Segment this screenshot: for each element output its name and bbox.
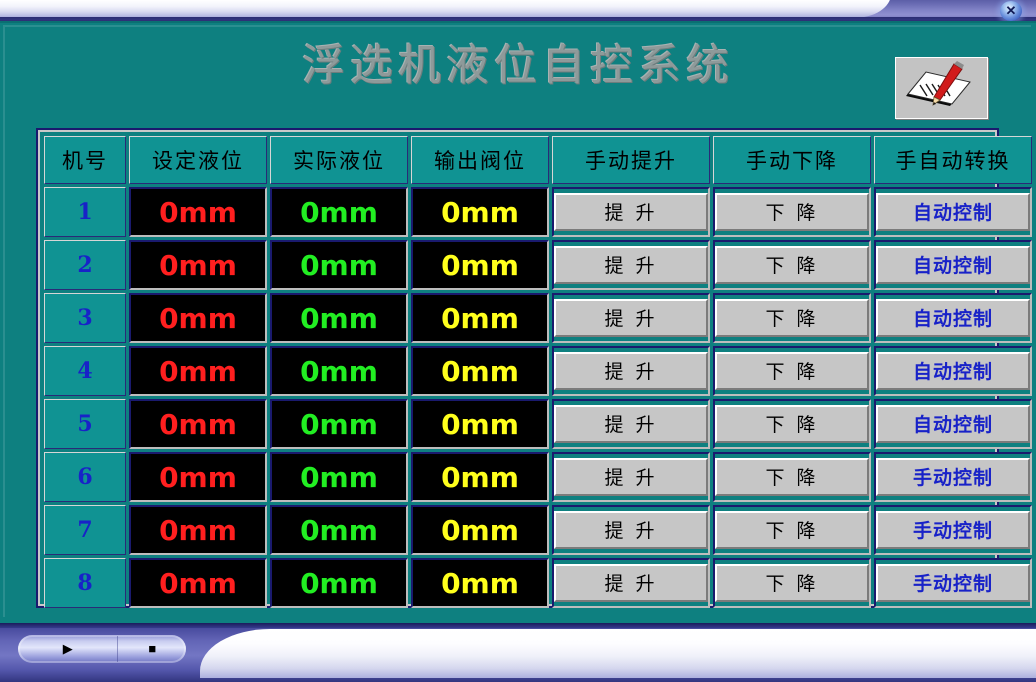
machine-number-cell: 7 — [44, 505, 126, 555]
manual-raise-cell: 提 升 — [552, 505, 710, 555]
play-button[interactable]: ▶ — [18, 635, 117, 663]
table-row: 60mm0mm0mm提 升下 降手动控制 — [44, 452, 1032, 502]
manual-lower-cell: 下 降 — [713, 505, 871, 555]
actual-level-readout: 0mm — [270, 452, 408, 502]
mode-switch-cell: 自动控制 — [874, 240, 1032, 290]
manual-raise-cell: 提 升 — [552, 240, 710, 290]
manual-raise-button[interactable]: 提 升 — [554, 405, 708, 443]
actual-level-readout: 0mm — [270, 293, 408, 343]
titlebar-sheet — [0, 0, 891, 18]
taskbar-sheet — [200, 629, 1036, 678]
actual-level-readout: 0mm — [270, 240, 408, 290]
manual-raise-button[interactable]: 提 升 — [554, 299, 708, 337]
mode-switch-button[interactable]: 自动控制 — [876, 299, 1030, 337]
set-level-readout: 0mm — [129, 187, 267, 237]
stop-button[interactable]: ■ — [118, 635, 186, 663]
set-level-readout: 0mm — [129, 558, 267, 608]
manual-lower-button[interactable]: 下 降 — [715, 511, 869, 549]
notepad-pencil-icon — [896, 58, 985, 116]
mode-switch-button[interactable]: 自动控制 — [876, 405, 1030, 443]
set-level-readout: 0mm — [129, 505, 267, 555]
manual-raise-cell: 提 升 — [552, 558, 710, 608]
manual-raise-cell: 提 升 — [552, 452, 710, 502]
mode-switch-button[interactable]: 手动控制 — [876, 458, 1030, 496]
mode-switch-cell: 自动控制 — [874, 399, 1032, 449]
machine-number-cell: 6 — [44, 452, 126, 502]
manual-lower-cell: 下 降 — [713, 399, 871, 449]
column-header-manual-lower: 手动下降 — [713, 136, 871, 184]
table-row: 50mm0mm0mm提 升下 降自动控制 — [44, 399, 1032, 449]
manual-raise-button[interactable]: 提 升 — [554, 564, 708, 602]
manual-raise-button[interactable]: 提 升 — [554, 511, 708, 549]
table-row: 70mm0mm0mm提 升下 降手动控制 — [44, 505, 1032, 555]
page-title: 浮选机液位自控系统 — [0, 31, 1036, 93]
table-header-row: 机号 设定液位 实际液位 输出阀位 手动提升 手动下降 手自动转换 — [44, 136, 1032, 184]
machine-level-table: 机号 设定液位 实际液位 输出阀位 手动提升 手动下降 手自动转换 10mm0m… — [41, 133, 1035, 611]
actual-level-readout: 0mm — [270, 346, 408, 396]
valve-output-readout: 0mm — [411, 187, 549, 237]
manual-lower-button[interactable]: 下 降 — [715, 246, 869, 284]
machine-number-cell: 5 — [44, 399, 126, 449]
play-icon: ▶ — [63, 641, 73, 657]
manual-raise-cell: 提 升 — [552, 293, 710, 343]
column-header-manual-raise: 手动提升 — [552, 136, 710, 184]
flotation-level-control-app: ✕ 浮选机液位自控系统 — [0, 0, 1036, 682]
column-header-set-level: 设定液位 — [129, 136, 267, 184]
mode-switch-button[interactable]: 自动控制 — [876, 193, 1030, 231]
table-row: 30mm0mm0mm提 升下 降自动控制 — [44, 293, 1032, 343]
manual-lower-button[interactable]: 下 降 — [715, 352, 869, 390]
manual-lower-button[interactable]: 下 降 — [715, 458, 869, 496]
main-stage: 浮选机液位自控系统 — [0, 23, 1036, 623]
runtime-control-pill: ▶ ■ — [18, 635, 186, 663]
mode-switch-button[interactable]: 自动控制 — [876, 246, 1030, 284]
close-window-button[interactable]: ✕ — [1000, 1, 1022, 21]
table-row: 80mm0mm0mm提 升下 降手动控制 — [44, 558, 1032, 608]
stop-icon: ■ — [148, 641, 156, 657]
window-titlebar: ✕ — [0, 0, 1036, 23]
table-body: 10mm0mm0mm提 升下 降自动控制20mm0mm0mm提 升下 降自动控制… — [44, 187, 1032, 608]
set-level-readout: 0mm — [129, 293, 267, 343]
column-header-actual-level: 实际液位 — [270, 136, 408, 184]
machine-number-cell: 8 — [44, 558, 126, 608]
manual-lower-cell: 下 降 — [713, 558, 871, 608]
actual-level-readout: 0mm — [270, 187, 408, 237]
valve-output-readout: 0mm — [411, 505, 549, 555]
mode-switch-cell: 自动控制 — [874, 293, 1032, 343]
valve-output-readout: 0mm — [411, 240, 549, 290]
manual-lower-cell: 下 降 — [713, 187, 871, 237]
valve-output-readout: 0mm — [411, 399, 549, 449]
valve-output-readout: 0mm — [411, 452, 549, 502]
mode-switch-cell: 自动控制 — [874, 346, 1032, 396]
close-icon: ✕ — [1006, 4, 1017, 17]
table-row: 20mm0mm0mm提 升下 降自动控制 — [44, 240, 1032, 290]
set-level-readout: 0mm — [129, 240, 267, 290]
table-row: 40mm0mm0mm提 升下 降自动控制 — [44, 346, 1032, 396]
manual-lower-cell: 下 降 — [713, 293, 871, 343]
actual-level-readout: 0mm — [270, 505, 408, 555]
manual-raise-cell: 提 升 — [552, 399, 710, 449]
machine-number-cell: 4 — [44, 346, 126, 396]
manual-raise-cell: 提 升 — [552, 187, 710, 237]
mode-switch-cell: 手动控制 — [874, 505, 1032, 555]
manual-lower-button[interactable]: 下 降 — [715, 564, 869, 602]
notepad-pencil-icon-button[interactable] — [895, 57, 988, 119]
machine-number-cell: 2 — [44, 240, 126, 290]
mode-switch-button[interactable]: 自动控制 — [876, 352, 1030, 390]
manual-raise-button[interactable]: 提 升 — [554, 352, 708, 390]
set-level-readout: 0mm — [129, 399, 267, 449]
valve-output-readout: 0mm — [411, 293, 549, 343]
table-row: 10mm0mm0mm提 升下 降自动控制 — [44, 187, 1032, 237]
mode-switch-cell: 手动控制 — [874, 452, 1032, 502]
taskbar-topline — [0, 623, 1036, 628]
set-level-readout: 0mm — [129, 346, 267, 396]
manual-raise-cell: 提 升 — [552, 346, 710, 396]
manual-lower-cell: 下 降 — [713, 346, 871, 396]
taskbar: ▶ ■ 金鹏矿机® MCGS ® 全中文工控组态软件 — [0, 623, 1036, 682]
machine-number-cell: 3 — [44, 293, 126, 343]
manual-lower-button[interactable]: 下 降 — [715, 193, 869, 231]
machine-number-cell: 1 — [44, 187, 126, 237]
mode-switch-button[interactable]: 手动控制 — [876, 511, 1030, 549]
manual-raise-button[interactable]: 提 升 — [554, 246, 708, 284]
manual-lower-cell: 下 降 — [713, 452, 871, 502]
manual-raise-button[interactable]: 提 升 — [554, 458, 708, 496]
column-header-mode-switch: 手自动转换 — [874, 136, 1032, 184]
valve-output-readout: 0mm — [411, 346, 549, 396]
valve-output-readout: 0mm — [411, 558, 549, 608]
manual-lower-cell: 下 降 — [713, 240, 871, 290]
actual-level-readout: 0mm — [270, 399, 408, 449]
manual-raise-button[interactable]: 提 升 — [554, 193, 708, 231]
column-header-machine: 机号 — [44, 136, 126, 184]
mode-switch-cell: 自动控制 — [874, 187, 1032, 237]
actual-level-readout: 0mm — [270, 558, 408, 608]
manual-lower-button[interactable]: 下 降 — [715, 299, 869, 337]
column-header-valve-output: 输出阀位 — [411, 136, 549, 184]
mode-switch-cell: 手动控制 — [874, 558, 1032, 608]
mode-switch-button[interactable]: 手动控制 — [876, 564, 1030, 602]
set-level-readout: 0mm — [129, 452, 267, 502]
manual-lower-button[interactable]: 下 降 — [715, 405, 869, 443]
